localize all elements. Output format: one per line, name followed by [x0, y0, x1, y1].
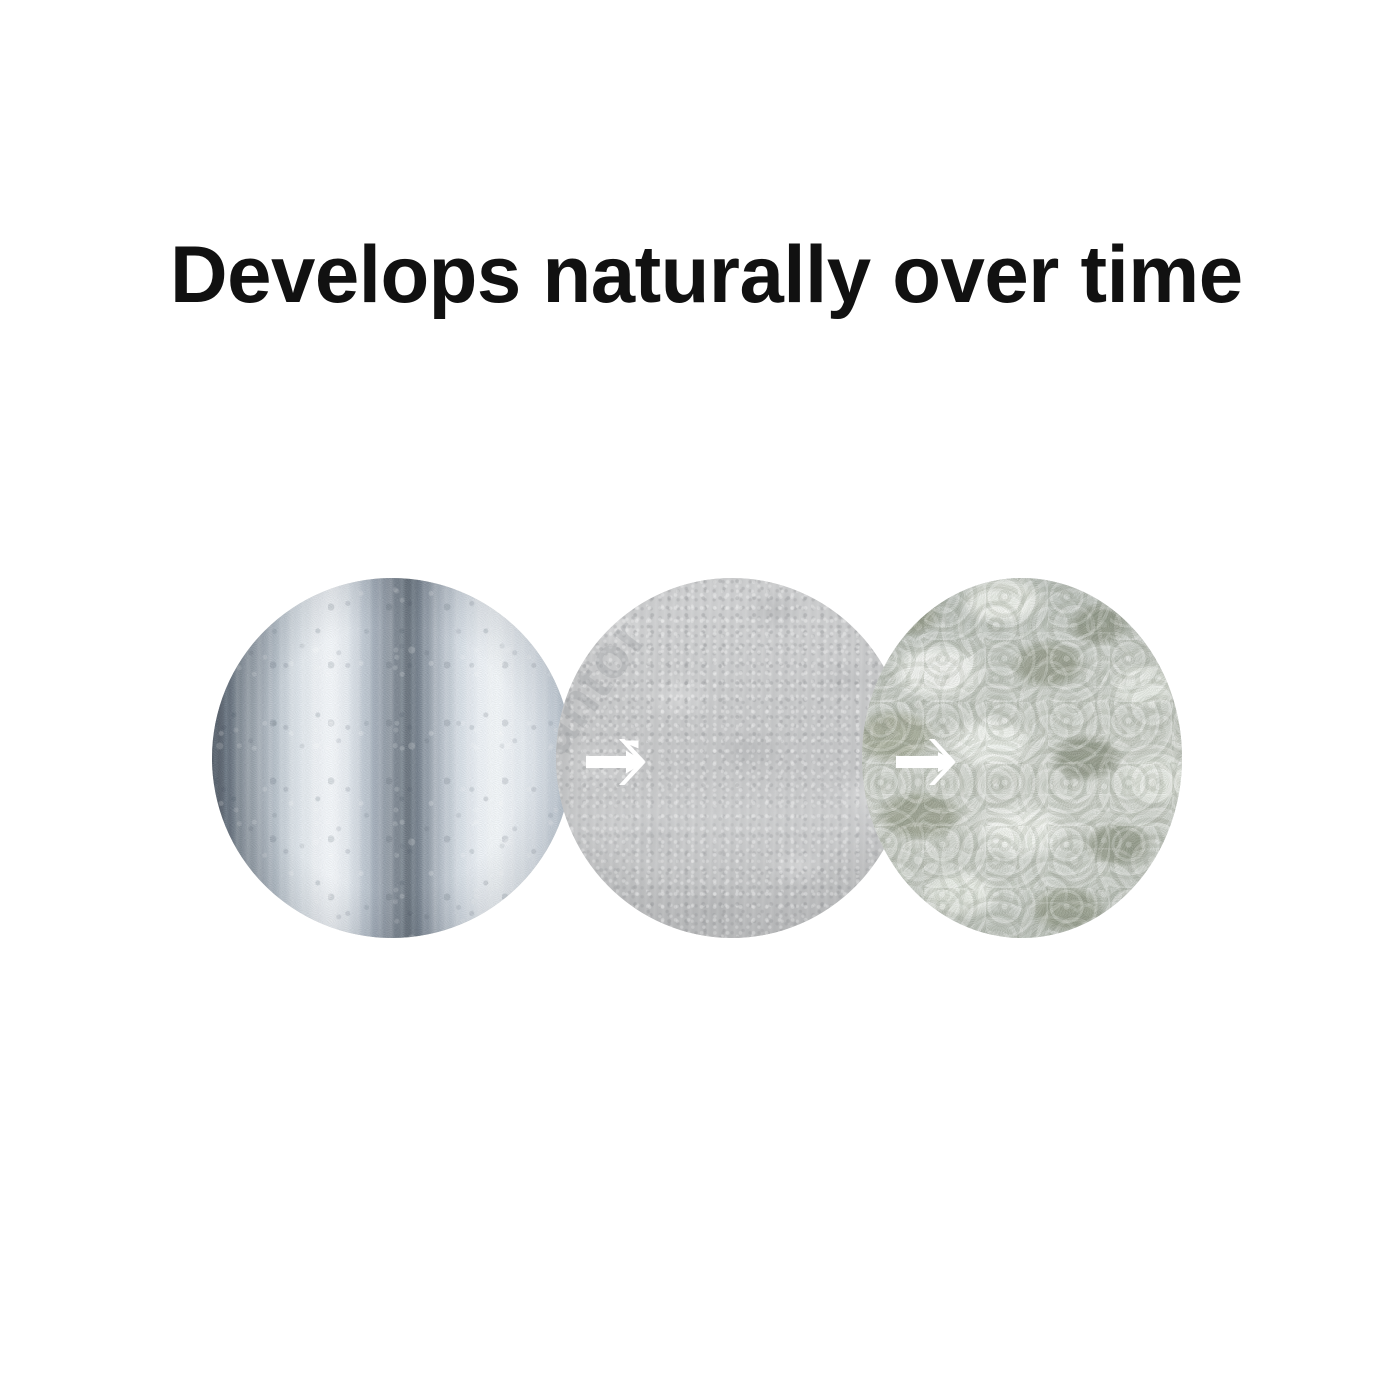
- arrow-right-icon-2: [896, 726, 968, 798]
- process-step-1-bright-zinc: [212, 578, 572, 938]
- zinc-vignette: [212, 578, 572, 938]
- weathering-process-graphic: cantor: [0, 0, 1400, 1400]
- arrow-right-icon-1: [586, 726, 658, 798]
